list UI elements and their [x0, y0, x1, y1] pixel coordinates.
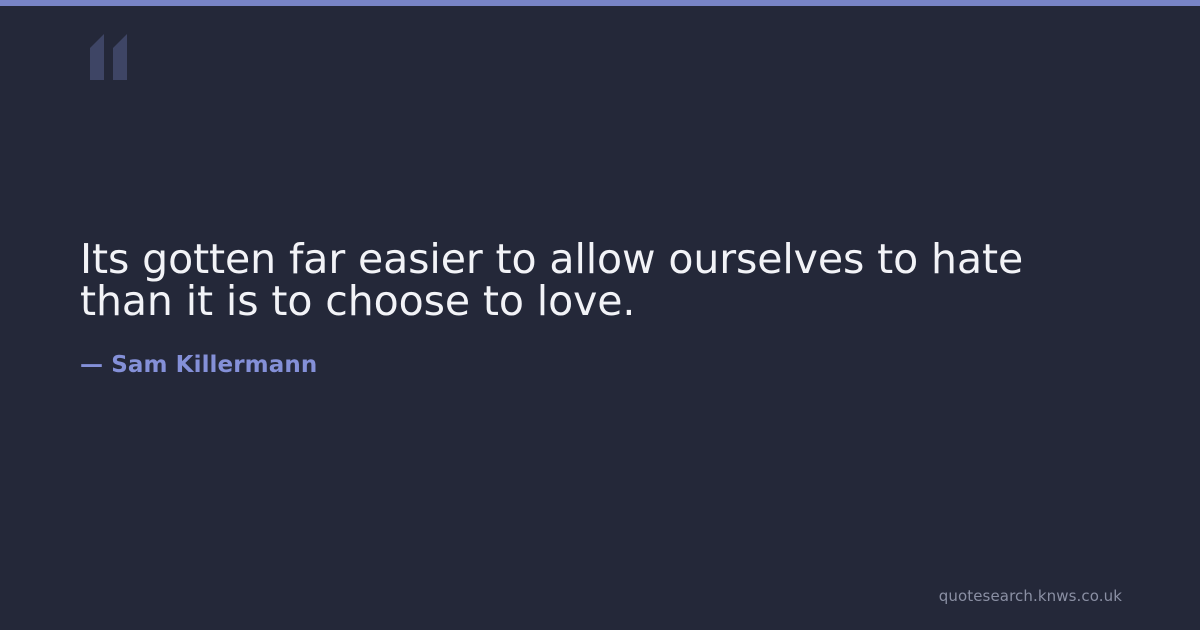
site-watermark: quotesearch.knws.co.uk [939, 587, 1122, 605]
quote-block: Its gotten far easier to allow ourselves… [80, 238, 1124, 322]
quote-card: Its gotten far easier to allow ourselves… [0, 6, 1200, 630]
quote-text: Its gotten far easier to allow ourselves… [80, 238, 1124, 322]
quote-author: — Sam Killermann [80, 350, 317, 380]
double-quote-open-icon [80, 34, 136, 80]
